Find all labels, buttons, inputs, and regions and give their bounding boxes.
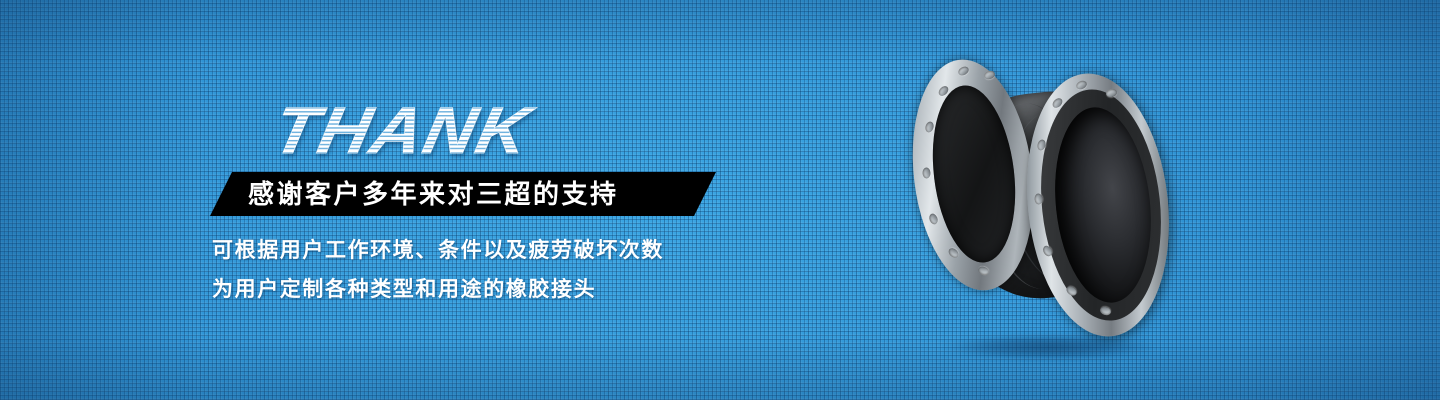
promo-banner: THANK THANK 感谢客户多年来对三超的支持 可根据用户工作环境、条件以及… xyxy=(0,0,1440,400)
description-line-1: 可根据用户工作环境、条件以及疲劳破坏次数 xyxy=(212,231,832,270)
description-line-2: 为用户定制各种类型和用途的橡胶接头 xyxy=(212,270,832,309)
description-block: 可根据用户工作环境、条件以及疲劳破坏次数 为用户定制各种类型和用途的橡胶接头 xyxy=(212,231,832,309)
product-image-rubber-expansion-joint: DN200 xyxy=(900,45,1190,345)
slogan-strip-text: 感谢客户多年来对三超的支持 xyxy=(248,181,619,207)
slogan-strip: 感谢客户多年来对三超的支持 xyxy=(210,172,716,216)
headline-thank: THANK xyxy=(267,92,728,168)
headline-block: THANK THANK xyxy=(275,92,695,168)
background-vignette xyxy=(0,0,1440,400)
